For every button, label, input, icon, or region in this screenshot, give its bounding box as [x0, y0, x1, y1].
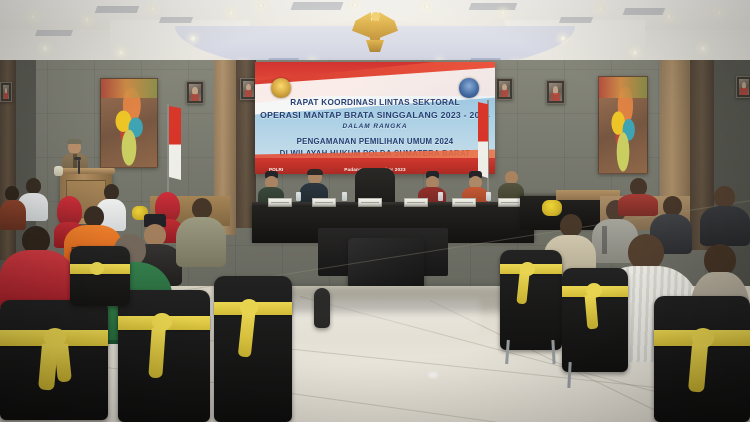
banquet-chair-left-2	[118, 290, 210, 422]
microphone-head-icon	[74, 157, 81, 160]
ceiling-downlight	[632, 50, 638, 55]
framed-portrait-left	[186, 81, 204, 104]
podium-flowers	[54, 166, 63, 176]
ceiling-downlight	[258, 3, 264, 8]
ceiling-vent	[95, 6, 140, 13]
ceiling-vent	[623, 8, 666, 15]
microphone-icon	[78, 160, 80, 174]
name-placard	[358, 198, 382, 207]
abstract-painting-left	[100, 78, 158, 168]
ceiling-downlight	[84, 17, 90, 22]
ceiling-downlight	[150, 6, 156, 11]
ceiling-vent	[559, 17, 593, 23]
ceiling-downlight	[500, 10, 506, 15]
ceiling-downlight	[190, 36, 196, 41]
ceiling-downlight	[716, 10, 722, 15]
ceiling-vent	[469, 3, 518, 10]
event-banner: RAPAT KOORDINASI LINTAS SEKTORAL OPERASI…	[255, 62, 495, 174]
drinking-glass	[296, 192, 301, 201]
ceiling-vent	[291, 2, 344, 10]
attendee-olive-shirt	[176, 198, 226, 264]
banner-polri-emblem-icon	[459, 78, 479, 98]
ceiling-downlight	[352, 2, 358, 7]
floor-light-reflection	[428, 372, 438, 378]
name-placard	[312, 198, 336, 207]
banner-line-2: OPERASI MANTAP BRATA SINGGALANG 2023 - 2…	[255, 110, 495, 120]
framed-portrait-center-right	[496, 78, 513, 100]
banquet-chair-center	[314, 288, 330, 328]
abstract-painting-right	[598, 76, 648, 174]
attendee-batik-far-left	[0, 186, 26, 228]
drinking-glass	[342, 192, 347, 201]
ceiling-downlight	[30, 14, 36, 19]
name-placard	[498, 198, 522, 207]
framed-portrait-far-left	[0, 82, 12, 102]
garuda-pancasila-emblem	[352, 8, 398, 54]
ceiling-downlight	[118, 50, 124, 55]
drinking-glass	[438, 192, 443, 201]
attendee-red-accent	[618, 178, 658, 212]
framed-portrait-right	[546, 80, 565, 104]
framed-portrait-far-right	[736, 76, 750, 98]
attendee-dark-uniform-2	[700, 186, 750, 242]
ceiling-downlight	[228, 10, 234, 15]
ceiling-downlight	[42, 46, 48, 51]
officer-cap	[67, 139, 82, 144]
ceiling-downlight	[560, 36, 566, 41]
indonesian-flag	[169, 106, 181, 180]
name-placard	[404, 198, 428, 207]
name-placard	[452, 198, 476, 207]
indonesian-flag-right	[478, 102, 488, 178]
banner-line-3: DALAM RANGKA	[255, 123, 495, 130]
ceiling-vent	[35, 30, 73, 36]
name-placard	[268, 198, 292, 207]
banner-line-4: PENGAMANAN PEMILIHAN UMUM 2024	[255, 137, 495, 146]
banner-garuda-emblem-icon	[271, 78, 291, 98]
chair-sash-knot	[90, 262, 104, 275]
ceiling-downlight	[598, 6, 604, 11]
ceiling-vent	[159, 17, 193, 23]
ceiling-downlight	[666, 14, 672, 19]
ceiling-downlight	[700, 46, 706, 51]
black-equipment-bag	[348, 238, 424, 290]
meeting-hall-photo: RAPAT KOORDINASI LINTAS SEKTORAL OPERASI…	[0, 0, 750, 422]
attendee-red-jacket	[0, 226, 74, 310]
banner-line-1: RAPAT KOORDINASI LINTAS SEKTORAL	[255, 98, 495, 107]
ceiling-downlight	[424, 4, 430, 9]
banquet-chair-left-3	[214, 276, 292, 422]
banquet-chair-left-4	[70, 246, 130, 306]
drinking-glass	[486, 192, 491, 201]
